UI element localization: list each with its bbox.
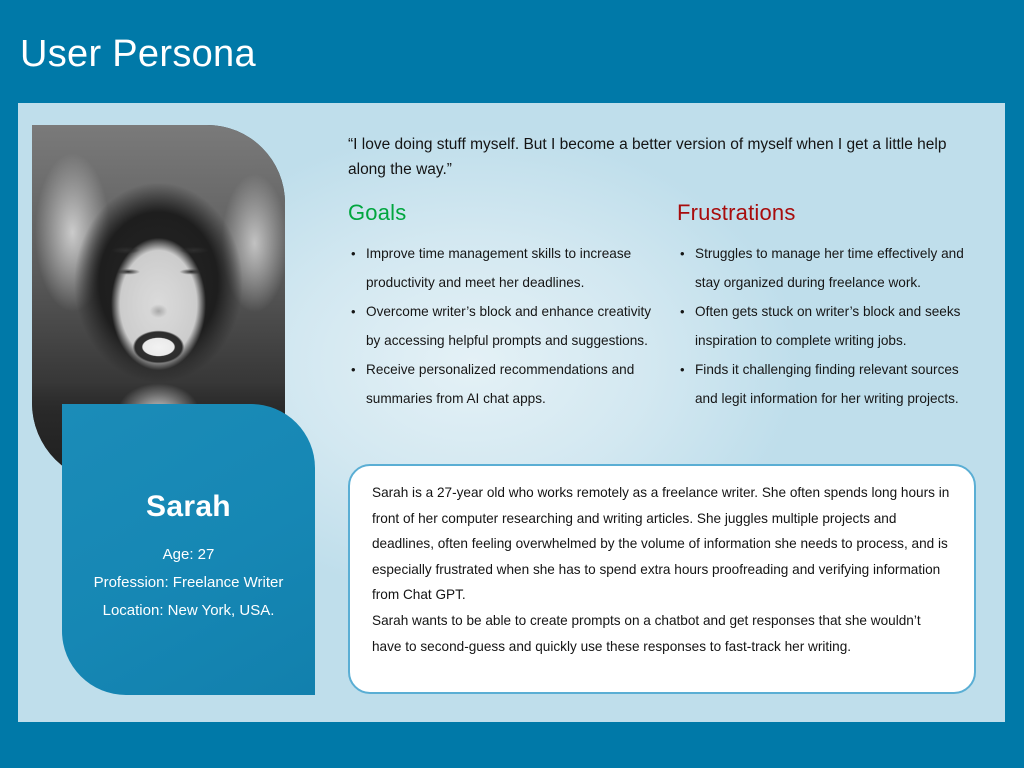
list-item: Finds it challenging finding relevant so… <box>677 356 982 413</box>
frustrations-list: Struggles to manage her time effectively… <box>677 240 982 413</box>
persona-age: Age: 27 <box>62 541 315 569</box>
page-header: User Persona <box>0 0 1024 103</box>
goals-section: Goals Improve time management skills to … <box>348 200 653 414</box>
goals-list: Improve time management skills to increa… <box>348 240 653 413</box>
persona-columns: Goals Improve time management skills to … <box>348 200 988 414</box>
persona-profession: Profession: Freelance Writer <box>62 569 315 597</box>
list-item: Improve time management skills to increa… <box>348 240 653 297</box>
persona-name: Sarah <box>62 490 315 524</box>
persona-location: Location: New York, USA. <box>62 597 315 625</box>
bio-paragraph: Sarah is a 27-year old who works remotel… <box>372 480 952 608</box>
list-item: Struggles to manage her time effectively… <box>677 240 982 297</box>
page-title: User Persona <box>20 33 256 76</box>
list-item: Receive personalized recommendations and… <box>348 356 653 413</box>
persona-quote: “I love doing stuff myself. But I become… <box>348 132 978 182</box>
frustrations-heading: Frustrations <box>677 200 982 226</box>
list-item: Often gets stuck on writer’s block and s… <box>677 298 982 355</box>
frustrations-section: Frustrations Struggles to manage her tim… <box>677 200 982 414</box>
persona-bio-box: Sarah is a 27-year old who works remotel… <box>348 464 976 694</box>
list-item: Overcome writer’s block and enhance crea… <box>348 298 653 355</box>
profile-card: Sarah Age: 27 Profession: Freelance Writ… <box>62 404 315 695</box>
persona-details: Age: 27 Profession: Freelance Writer Loc… <box>62 541 315 625</box>
goals-heading: Goals <box>348 200 653 226</box>
bio-paragraph: Sarah wants to be able to create prompts… <box>372 608 952 659</box>
